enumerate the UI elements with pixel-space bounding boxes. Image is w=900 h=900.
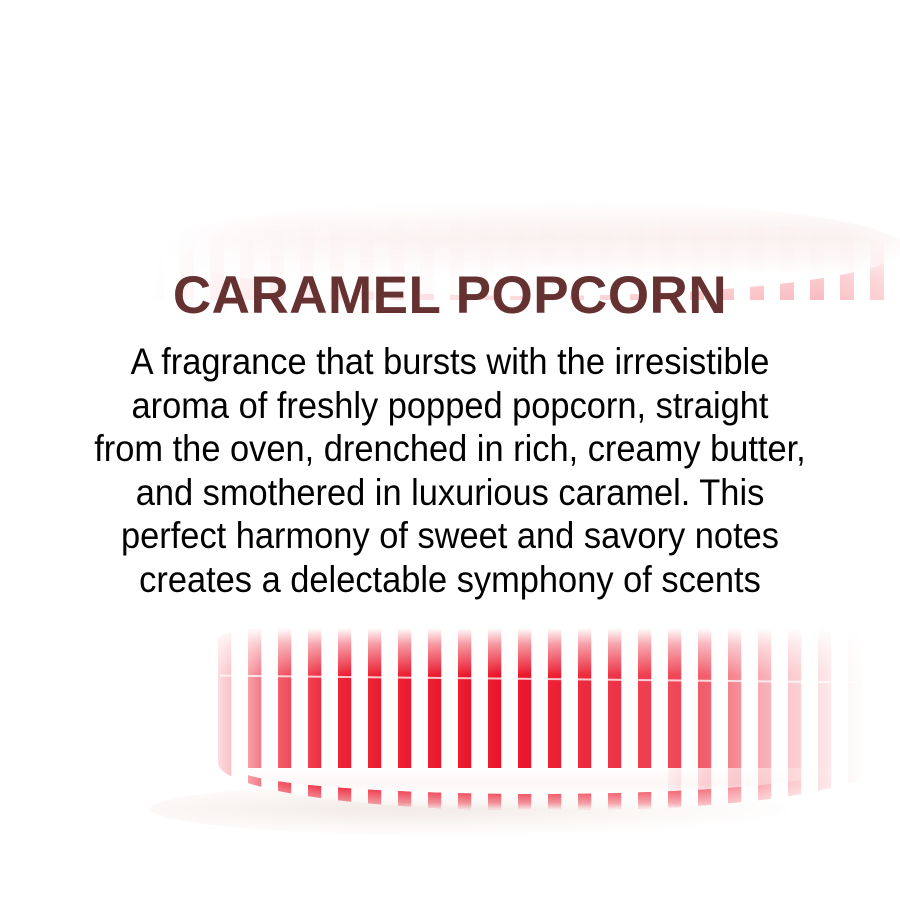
popcorn-kernel: [42, 678, 75, 711]
popcorn-kernel: [428, 134, 452, 158]
popcorn-kernel: [15, 806, 53, 845]
popcorn-kernel: [128, 235, 151, 260]
popcorn-kernel: [841, 0, 863, 21]
popcorn-kernel: [40, 837, 85, 881]
popcorn-kernel: [409, 123, 447, 166]
popcorn-kernel: [0, 647, 27, 687]
popcorn-kernel: [801, 135, 840, 175]
popcorn-kernel: [160, 642, 203, 687]
popcorn-kernel: [57, 665, 107, 714]
popcorn-kernel: [209, 807, 247, 850]
popcorn-kernel: [15, 795, 55, 836]
popcorn-kernel: [563, 0, 600, 37]
popcorn-kernel: [136, 861, 168, 893]
popcorn-kernel: [720, 171, 744, 190]
popcorn-kernel: [720, 80, 743, 105]
popcorn-kernel: [720, 39, 743, 61]
popcorn-kernel: [414, 0, 449, 34]
popcorn-kernel: [333, 835, 386, 890]
popcorn-kernel: [172, 847, 198, 872]
popcorn-kernel: [0, 850, 57, 900]
popcorn-kernel: [492, 69, 513, 91]
popcorn-kernel: [735, 70, 752, 89]
popcorn-kernel: [566, 67, 591, 92]
popcorn-kernel: [677, 72, 702, 98]
popcorn-kernel: [881, 35, 900, 77]
popcorn-kernel: [848, 58, 878, 86]
popcorn-kernel: [435, 845, 465, 870]
popcorn-kernel: [473, 855, 495, 874]
popcorn-kernel: [99, 183, 139, 222]
popcorn-kernel: [803, 169, 833, 200]
popcorn-kernel: [856, 50, 898, 93]
popcorn-kernel: [215, 855, 234, 876]
popcorn-kernel: [161, 659, 199, 697]
popcorn-kernel: [549, 94, 589, 135]
popcorn-kernel: [145, 759, 191, 805]
popcorn-kernel: [87, 776, 119, 809]
popcorn-kernel: [89, 803, 132, 847]
popcorn-kernel: [267, 135, 305, 175]
popcorn-kernel: [466, 147, 504, 184]
popcorn-kernel: [189, 858, 243, 900]
description-line: aroma of freshly popped popcorn, straigh…: [56, 384, 845, 428]
popcorn-kernel: [474, 152, 512, 190]
popcorn-kernel: [780, 161, 804, 186]
popcorn-kernel: [844, 185, 871, 213]
popcorn-kernel: [465, 120, 488, 140]
popcorn-kernel: [145, 663, 185, 702]
popcorn-kernel: [302, 796, 344, 838]
popcorn-kernel: [289, 841, 329, 882]
popcorn-kernel: [602, 838, 638, 874]
popcorn-kernel: [98, 213, 129, 243]
popcorn-kernel: [178, 860, 210, 891]
popcorn-kernel: [6, 795, 71, 859]
popcorn-kernel: [281, 864, 307, 890]
popcorn-kernel: [148, 666, 206, 724]
popcorn-kernel: [136, 781, 184, 829]
popcorn-kernel: [442, 173, 468, 199]
popcorn-kernel: [827, 67, 858, 96]
popcorn-kernel: [473, 860, 526, 900]
popcorn-kernel: [0, 648, 29, 683]
popcorn-kernel: [570, 814, 606, 853]
popcorn-kernel: [825, 90, 851, 115]
popcorn-kernel: [700, 137, 744, 180]
popcorn-kernel: [430, 17, 466, 53]
popcorn-kernel: [0, 804, 15, 833]
popcorn-kernel: [15, 805, 45, 835]
popcorn-kernel: [5, 850, 35, 880]
popcorn-kernel: [754, 85, 775, 106]
popcorn-kernel: [394, 871, 432, 900]
popcorn-kernel: [411, 71, 457, 117]
popcorn-kernel: [499, 123, 543, 165]
popcorn-kernel: [570, 824, 614, 862]
popcorn-kernel: [82, 708, 106, 731]
popcorn-kernel: [152, 176, 173, 196]
popcorn-kernel: [17, 864, 61, 900]
popcorn-kernel: [179, 838, 200, 856]
popcorn-kernel: [662, 108, 684, 133]
popcorn-kernel: [517, 25, 563, 67]
popcorn-kernel: [404, 879, 441, 900]
popcorn-kernel: [587, 77, 620, 110]
popcorn-kernel: [332, 151, 358, 177]
popcorn-kernel: [585, 802, 645, 860]
popcorn-kernel: [572, 50, 619, 97]
popcorn-kernel: [604, 111, 645, 153]
popcorn-kernel: [881, 22, 900, 45]
popcorn-kernel: [187, 793, 216, 825]
popcorn-kernel: [103, 818, 132, 851]
popcorn-kernel: [479, 92, 501, 112]
popcorn-kernel: [796, 45, 835, 84]
popcorn-kernel: [827, 154, 869, 197]
popcorn-kernel: [408, 165, 441, 198]
popcorn-kernel: [745, 137, 777, 169]
popcorn-kernel: [117, 667, 149, 698]
popcorn-kernel: [94, 221, 143, 270]
popcorn-kernel: [287, 135, 333, 179]
popcorn-kernel: [94, 677, 145, 728]
popcorn-kernel: [799, 174, 820, 195]
popcorn-kernel: [449, 856, 494, 898]
popcorn-kernel: [33, 665, 61, 692]
popcorn-kernel: [876, 127, 900, 157]
popcorn-kernel: [349, 168, 380, 201]
popcorn-kernel: [69, 801, 118, 851]
popcorn-kernel: [834, 25, 862, 52]
popcorn-kernel: [480, 79, 514, 112]
popcorn-kernel: [846, 118, 892, 164]
popcorn-kernel: [575, 156, 602, 182]
popcorn-kernel: [322, 155, 361, 193]
popcorn-kernel: [291, 166, 325, 203]
popcorn-kernel: [454, 849, 482, 875]
popcorn-kernel: [762, 104, 812, 153]
popcorn-kernel: [123, 811, 157, 843]
popcorn-kernel: [89, 866, 128, 900]
popcorn-kernel: [338, 880, 374, 900]
popcorn-kernel: [41, 850, 74, 883]
popcorn-kernel: [870, 0, 900, 28]
popcorn-kernel: [673, 127, 701, 155]
popcorn-kernel: [483, 56, 503, 75]
popcorn-kernel: [164, 157, 211, 204]
popcorn-kernel: [433, 809, 473, 845]
popcorn-kernel: [552, 40, 575, 63]
popcorn-kernel: [135, 836, 174, 877]
popcorn-kernel: [443, 128, 486, 171]
popcorn-kernel: [502, 86, 536, 119]
popcorn-kernel: [781, 113, 826, 159]
popcorn-kernel: [774, 66, 811, 98]
popcorn-kernel: [877, 0, 900, 22]
popcorn-kernel: [31, 793, 76, 839]
popcorn-kernel: [767, 59, 799, 92]
popcorn-kernel: [497, 152, 525, 179]
popcorn-kernel: [164, 168, 204, 209]
popcorn-kernel: [63, 684, 95, 716]
popcorn-kernel: [53, 658, 92, 700]
popcorn-kernel: [26, 691, 73, 732]
popcorn-kernel: [291, 118, 338, 164]
popcorn-kernel: [93, 223, 128, 259]
popcorn-kernel: [723, 112, 758, 145]
popcorn-kernel: [299, 814, 328, 840]
popcorn-kernel: [732, 180, 763, 210]
popcorn-kernel: [107, 175, 139, 201]
popcorn-kernel: [682, 121, 714, 153]
popcorn-kernel: [523, 148, 554, 179]
popcorn-kernel: [718, 40, 752, 72]
popcorn-kernel: [869, 101, 892, 123]
popcorn-kernel: [485, 856, 528, 898]
popcorn-kernel: [275, 827, 303, 855]
popcorn-kernel: [48, 738, 97, 789]
popcorn-kernel: [352, 176, 385, 207]
popcorn-kernel: [268, 801, 307, 837]
popcorn-kernel: [611, 112, 655, 157]
popcorn-kernel: [582, 806, 635, 857]
popcorn-kernel: [796, 75, 824, 103]
popcorn-kernel: [116, 788, 144, 816]
popcorn-kernel: [46, 690, 69, 716]
popcorn-kernel: [159, 764, 203, 815]
popcorn-kernel: [819, 6, 869, 56]
popcorn-kernel: [80, 742, 137, 799]
popcorn-kernel: [278, 164, 306, 188]
popcorn-kernel: [640, 99, 682, 144]
popcorn-kernel: [729, 50, 764, 85]
popcorn-kernel: [666, 168, 694, 195]
popcorn-kernel: [52, 843, 83, 875]
popcorn-kernel: [422, 866, 452, 898]
popcorn-kernel: [881, 46, 900, 96]
popcorn-kernel: [311, 812, 331, 830]
popcorn-kernel: [508, 47, 553, 89]
popcorn-kernel: [144, 663, 172, 691]
popcorn-kernel: [0, 840, 24, 886]
popcorn-kernel: [194, 683, 217, 707]
popcorn-kernel: [416, 834, 478, 896]
popcorn-kernel: [561, 865, 602, 900]
popcorn-kernel: [181, 682, 222, 728]
popcorn-kernel: [375, 142, 409, 180]
popcorn-kernel: [264, 866, 319, 900]
popcorn-kernel: [464, 104, 481, 120]
popcorn-kernel: [145, 732, 178, 762]
popcorn-kernel: [41, 771, 80, 816]
popcorn-kernel: [834, 43, 867, 77]
popcorn-kernel: [773, 88, 796, 110]
popcorn-kernel: [148, 709, 202, 760]
popcorn-kernel: [35, 837, 66, 867]
popcorn-kernel: [68, 697, 102, 733]
popcorn-kernel: [868, 7, 894, 33]
popcorn-kernel: [448, 53, 501, 106]
popcorn-kernel: [29, 668, 81, 718]
popcorn-kernel: [23, 835, 49, 859]
popcorn-kernel: [88, 816, 140, 866]
popcorn-kernel: [783, 134, 826, 175]
popcorn-kernel: [833, 8, 853, 28]
popcorn-kernel: [290, 846, 321, 879]
popcorn-kernel: [601, 813, 638, 849]
popcorn-kernel: [823, 30, 870, 78]
popcorn-kernel: [716, 10, 742, 37]
popcorn-kernel: [727, 43, 764, 84]
popcorn-kernel: [162, 879, 184, 900]
popcorn-kernel: [469, 853, 522, 900]
popcorn-kernel: [0, 675, 27, 709]
popcorn-kernel: [0, 845, 27, 874]
popcorn-kernel: [787, 52, 828, 90]
popcorn-kernel: [120, 205, 157, 242]
popcorn-kernel: [535, 26, 574, 64]
popcorn-kernel: [490, 23, 541, 73]
popcorn-kernel: [38, 864, 59, 887]
popcorn-kernel: [124, 686, 176, 737]
popcorn-kernel: [108, 835, 139, 866]
popcorn-kernel: [374, 144, 394, 163]
popcorn-kernel: [586, 0, 618, 26]
popcorn-kernel: [552, 107, 586, 140]
popcorn-kernel: [644, 0, 669, 16]
popcorn-kernel: [280, 156, 306, 183]
popcorn-kernel: [0, 882, 9, 900]
popcorn-kernel: [666, 60, 696, 93]
popcorn-kernel: [230, 811, 270, 856]
popcorn-kernel: [553, 167, 575, 187]
popcorn-kernel: [882, 0, 900, 27]
popcorn-kernel: [0, 829, 6, 849]
popcorn-kernel: [129, 838, 189, 898]
popcorn-kernel: [372, 816, 430, 874]
popcorn-kernel: [0, 788, 33, 836]
popcorn-kernel: [143, 832, 200, 891]
popcorn-kernel: [570, 158, 591, 181]
popcorn-kernel: [177, 195, 206, 224]
popcorn-kernel: [667, 65, 693, 91]
popcorn-kernel: [810, 127, 830, 148]
popcorn-kernel: [654, 73, 690, 108]
popcorn-kernel: [139, 801, 201, 864]
popcorn-kernel: [197, 853, 219, 876]
popcorn-kernel: [0, 800, 32, 849]
popcorn-kernel: [672, 129, 696, 154]
popcorn-kernel: [354, 113, 381, 140]
popcorn-kernel: [544, 66, 584, 107]
popcorn-kernel: [162, 201, 195, 232]
popcorn-kernel: [640, 0, 680, 28]
popcorn-kernel: [70, 659, 119, 704]
popcorn-kernel: [716, 67, 762, 116]
popcorn-kernel: [15, 674, 38, 699]
popcorn-kernel: [210, 159, 237, 187]
popcorn-kernel: [330, 837, 376, 883]
popcorn-kernel: [14, 675, 44, 704]
popcorn-kernel: [608, 152, 630, 173]
popcorn-kernel: [426, 886, 453, 900]
popcorn-kernel: [868, 53, 900, 86]
popcorn-kernel: [171, 160, 195, 184]
popcorn-kernel: [816, 71, 850, 107]
popcorn-kernel: [501, 857, 533, 889]
popcorn-kernel: [871, 165, 898, 195]
popcorn-kernel: [606, 167, 637, 197]
popcorn-kernel: [136, 790, 164, 820]
popcorn-kernel: [746, 12, 778, 44]
popcorn-kernel: [414, 152, 460, 197]
popcorn-kernel: [126, 695, 151, 720]
popcorn-kernel: [452, 165, 485, 196]
popcorn-kernel: [275, 823, 316, 864]
popcorn-kernel: [17, 750, 78, 812]
popcorn-kernel: [342, 881, 378, 900]
popcorn-kernel: [565, 807, 595, 837]
popcorn-kernel: [893, 1, 900, 25]
popcorn-kernel: [23, 859, 57, 896]
popcorn-kernel: [716, 52, 736, 74]
popcorn-kernel: [132, 881, 171, 900]
popcorn-kernel: [1, 817, 56, 872]
popcorn-kernel: [335, 802, 359, 825]
popcorn-kernel: [0, 799, 20, 847]
popcorn-kernel: [405, 128, 446, 168]
popcorn-kernel: [233, 185, 258, 211]
popcorn-kernel: [60, 873, 94, 900]
popcorn-kernel: [178, 737, 212, 771]
popcorn-kernel: [200, 796, 246, 837]
popcorn-kernel: [686, 93, 724, 130]
popcorn-kernel: [108, 221, 134, 247]
popcorn-kernel: [808, 80, 828, 99]
popcorn-kernel: [116, 196, 148, 229]
popcorn-kernel: [752, 181, 779, 205]
popcorn-kernel: [338, 820, 393, 875]
popcorn-kernel: [62, 843, 107, 886]
popcorn-kernel: [877, 105, 900, 134]
popcorn-kernel: [667, 2, 688, 23]
popcorn-kernel: [6, 880, 43, 900]
popcorn-kernel: [603, 105, 636, 138]
popcorn-kernel: [825, 20, 852, 47]
popcorn-kernel: [107, 223, 145, 263]
popcorn-kernel: [567, 868, 591, 889]
popcorn-kernel: [369, 867, 409, 900]
popcorn-kernel: [796, 79, 832, 118]
popcorn-kernel: [807, 95, 829, 116]
popcorn-kernel: [365, 828, 407, 871]
popcorn-kernel: [571, 831, 614, 873]
popcorn-kernel: [393, 100, 411, 116]
popcorn-kernel: [643, 23, 662, 43]
popcorn-kernel: [416, 104, 457, 140]
popcorn-kernel: [496, 77, 545, 124]
popcorn-kernel: [733, 53, 755, 75]
popcorn-kernel: [123, 878, 155, 900]
popcorn-kernel: [362, 152, 388, 178]
popcorn-kernel: [830, 86, 859, 115]
popcorn-kernel: [739, 97, 783, 143]
popcorn-kernel: [67, 764, 122, 821]
popcorn-kernel: [875, 32, 900, 65]
popcorn-kernel: [480, 869, 515, 900]
popcorn-kernel: [454, 886, 475, 900]
